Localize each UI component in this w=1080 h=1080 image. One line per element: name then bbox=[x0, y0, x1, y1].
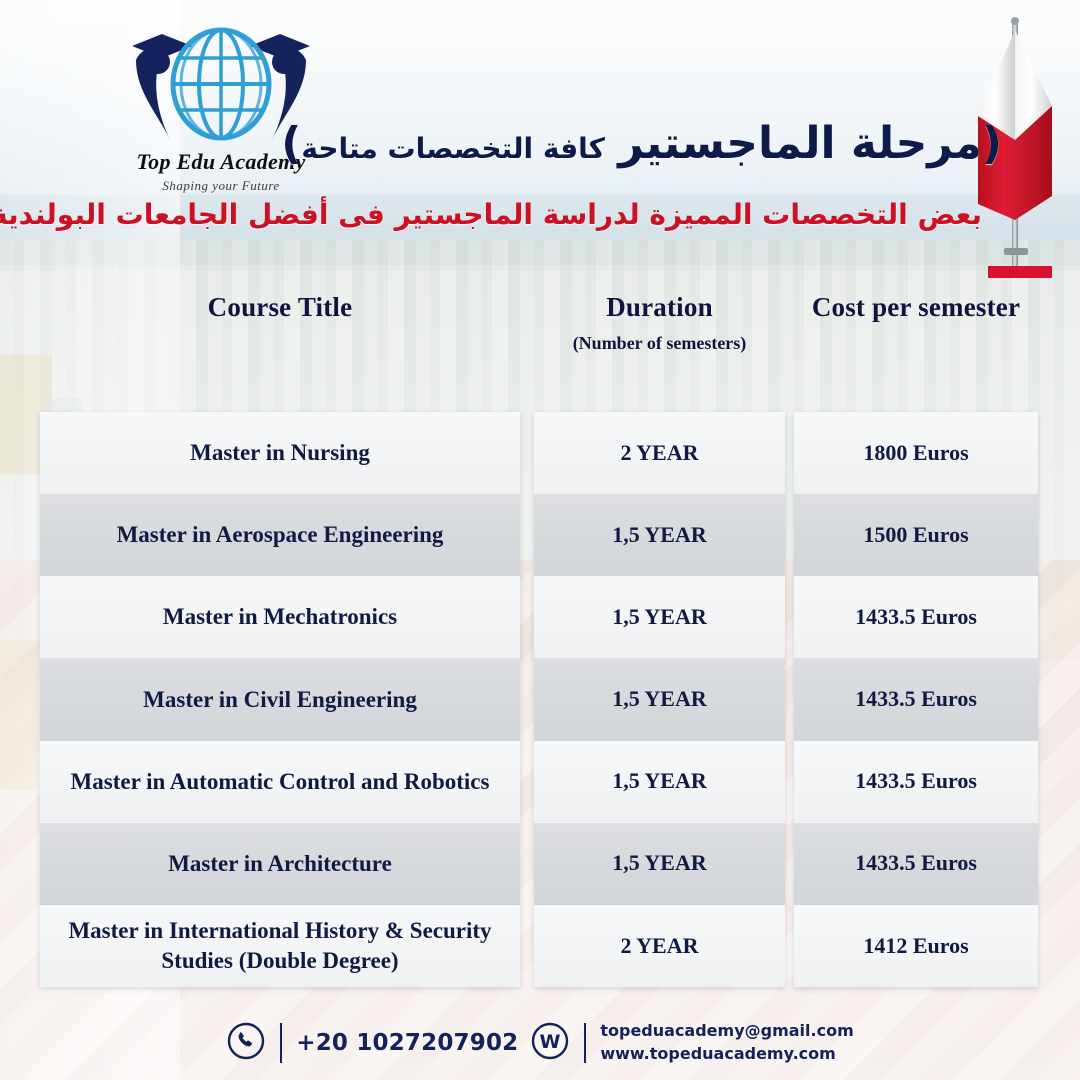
table-cell-cost: 1433.5 Euros bbox=[794, 823, 1038, 905]
table-cell-course: Master in Automatic Control and Robotics bbox=[40, 741, 520, 823]
website-url[interactable]: www.topeduacademy.com bbox=[600, 1044, 835, 1063]
table-cell-duration: 1,5 YEAR bbox=[534, 494, 785, 576]
email-address[interactable]: topeduacademy@gmail.com bbox=[600, 1021, 853, 1040]
table-cell-duration: 2 YEAR bbox=[534, 905, 785, 987]
phone-number[interactable]: +20 1027207902 bbox=[296, 1030, 518, 1056]
column-duration: 2 YEAR1,5 YEAR1,5 YEAR1,5 YEAR1,5 YEAR1,… bbox=[534, 412, 785, 987]
table-cell-course: Master in International History & Securi… bbox=[40, 905, 520, 987]
phone-icon[interactable] bbox=[226, 1021, 266, 1066]
table-cell-duration: 1,5 YEAR bbox=[534, 658, 785, 740]
title-paren-close: ) bbox=[281, 118, 301, 169]
whatsapp-icon[interactable]: W bbox=[530, 1021, 570, 1066]
table-cell-course: Master in Aerospace Engineering bbox=[40, 494, 520, 576]
page-title-arabic: (مرحلة الماجستير كافة التخصصات متاحة) bbox=[281, 118, 1002, 169]
contact-footer: +20 1027207902 W topeduacademy@gmail.com… bbox=[0, 1010, 1080, 1076]
header-label: Course Title bbox=[40, 292, 520, 324]
title-sub-text: كافة التخصصات متاحة bbox=[301, 132, 605, 165]
table-cell-duration: 1,5 YEAR bbox=[534, 741, 785, 823]
logo-tagline: Shaping your Future bbox=[96, 178, 346, 194]
header-label: Duration bbox=[534, 292, 785, 324]
header-sublabel: (Number of semesters) bbox=[534, 333, 785, 354]
table-cell-cost: 1433.5 Euros bbox=[794, 741, 1038, 823]
footer-divider bbox=[280, 1023, 282, 1063]
column-course-title: Master in NursingMaster in Aerospace Eng… bbox=[40, 412, 520, 987]
table-cell-duration: 2 YEAR bbox=[534, 412, 785, 494]
table-cell-duration: 1,5 YEAR bbox=[534, 823, 785, 905]
table-header-duration: Duration (Number of semesters) bbox=[534, 255, 785, 412]
header-label: Cost per semester bbox=[794, 292, 1038, 324]
table-cell-cost: 1433.5 Euros bbox=[794, 576, 1038, 658]
table-cell-duration: 1,5 YEAR bbox=[534, 576, 785, 658]
courses-table: Course Title Duration (Number of semeste… bbox=[40, 255, 1038, 987]
table-cell-cost: 1412 Euros bbox=[794, 905, 1038, 987]
table-cell-course: Master in Nursing bbox=[40, 412, 520, 494]
table-header-course-title: Course Title bbox=[40, 255, 520, 412]
table-header-cost: Cost per semester bbox=[794, 255, 1038, 412]
table-cell-course: Master in Mechatronics bbox=[40, 576, 520, 658]
title-main-text: مرحلة الماجستير bbox=[618, 118, 982, 169]
column-cost: 1800 Euros1500 Euros1433.5 Euros1433.5 E… bbox=[794, 412, 1038, 987]
brand-logo: Top Edu Academy Shaping your Future bbox=[96, 22, 346, 197]
svg-text:W: W bbox=[540, 1031, 561, 1053]
table-cell-course: Master in Architecture bbox=[40, 823, 520, 905]
table-cell-cost: 1800 Euros bbox=[794, 412, 1038, 494]
page-subtitle-arabic: بعض التخصصات المميزة لدراسة الماجستير فى… bbox=[0, 198, 982, 231]
footer-divider bbox=[584, 1023, 586, 1063]
table-cell-course: Master in Civil Engineering bbox=[40, 658, 520, 740]
title-paren-open: ( bbox=[982, 118, 1002, 169]
table-cell-cost: 1500 Euros bbox=[794, 494, 1038, 576]
contact-details: topeduacademy@gmail.com www.topeduacadem… bbox=[600, 1020, 853, 1065]
table-cell-cost: 1433.5 Euros bbox=[794, 658, 1038, 740]
